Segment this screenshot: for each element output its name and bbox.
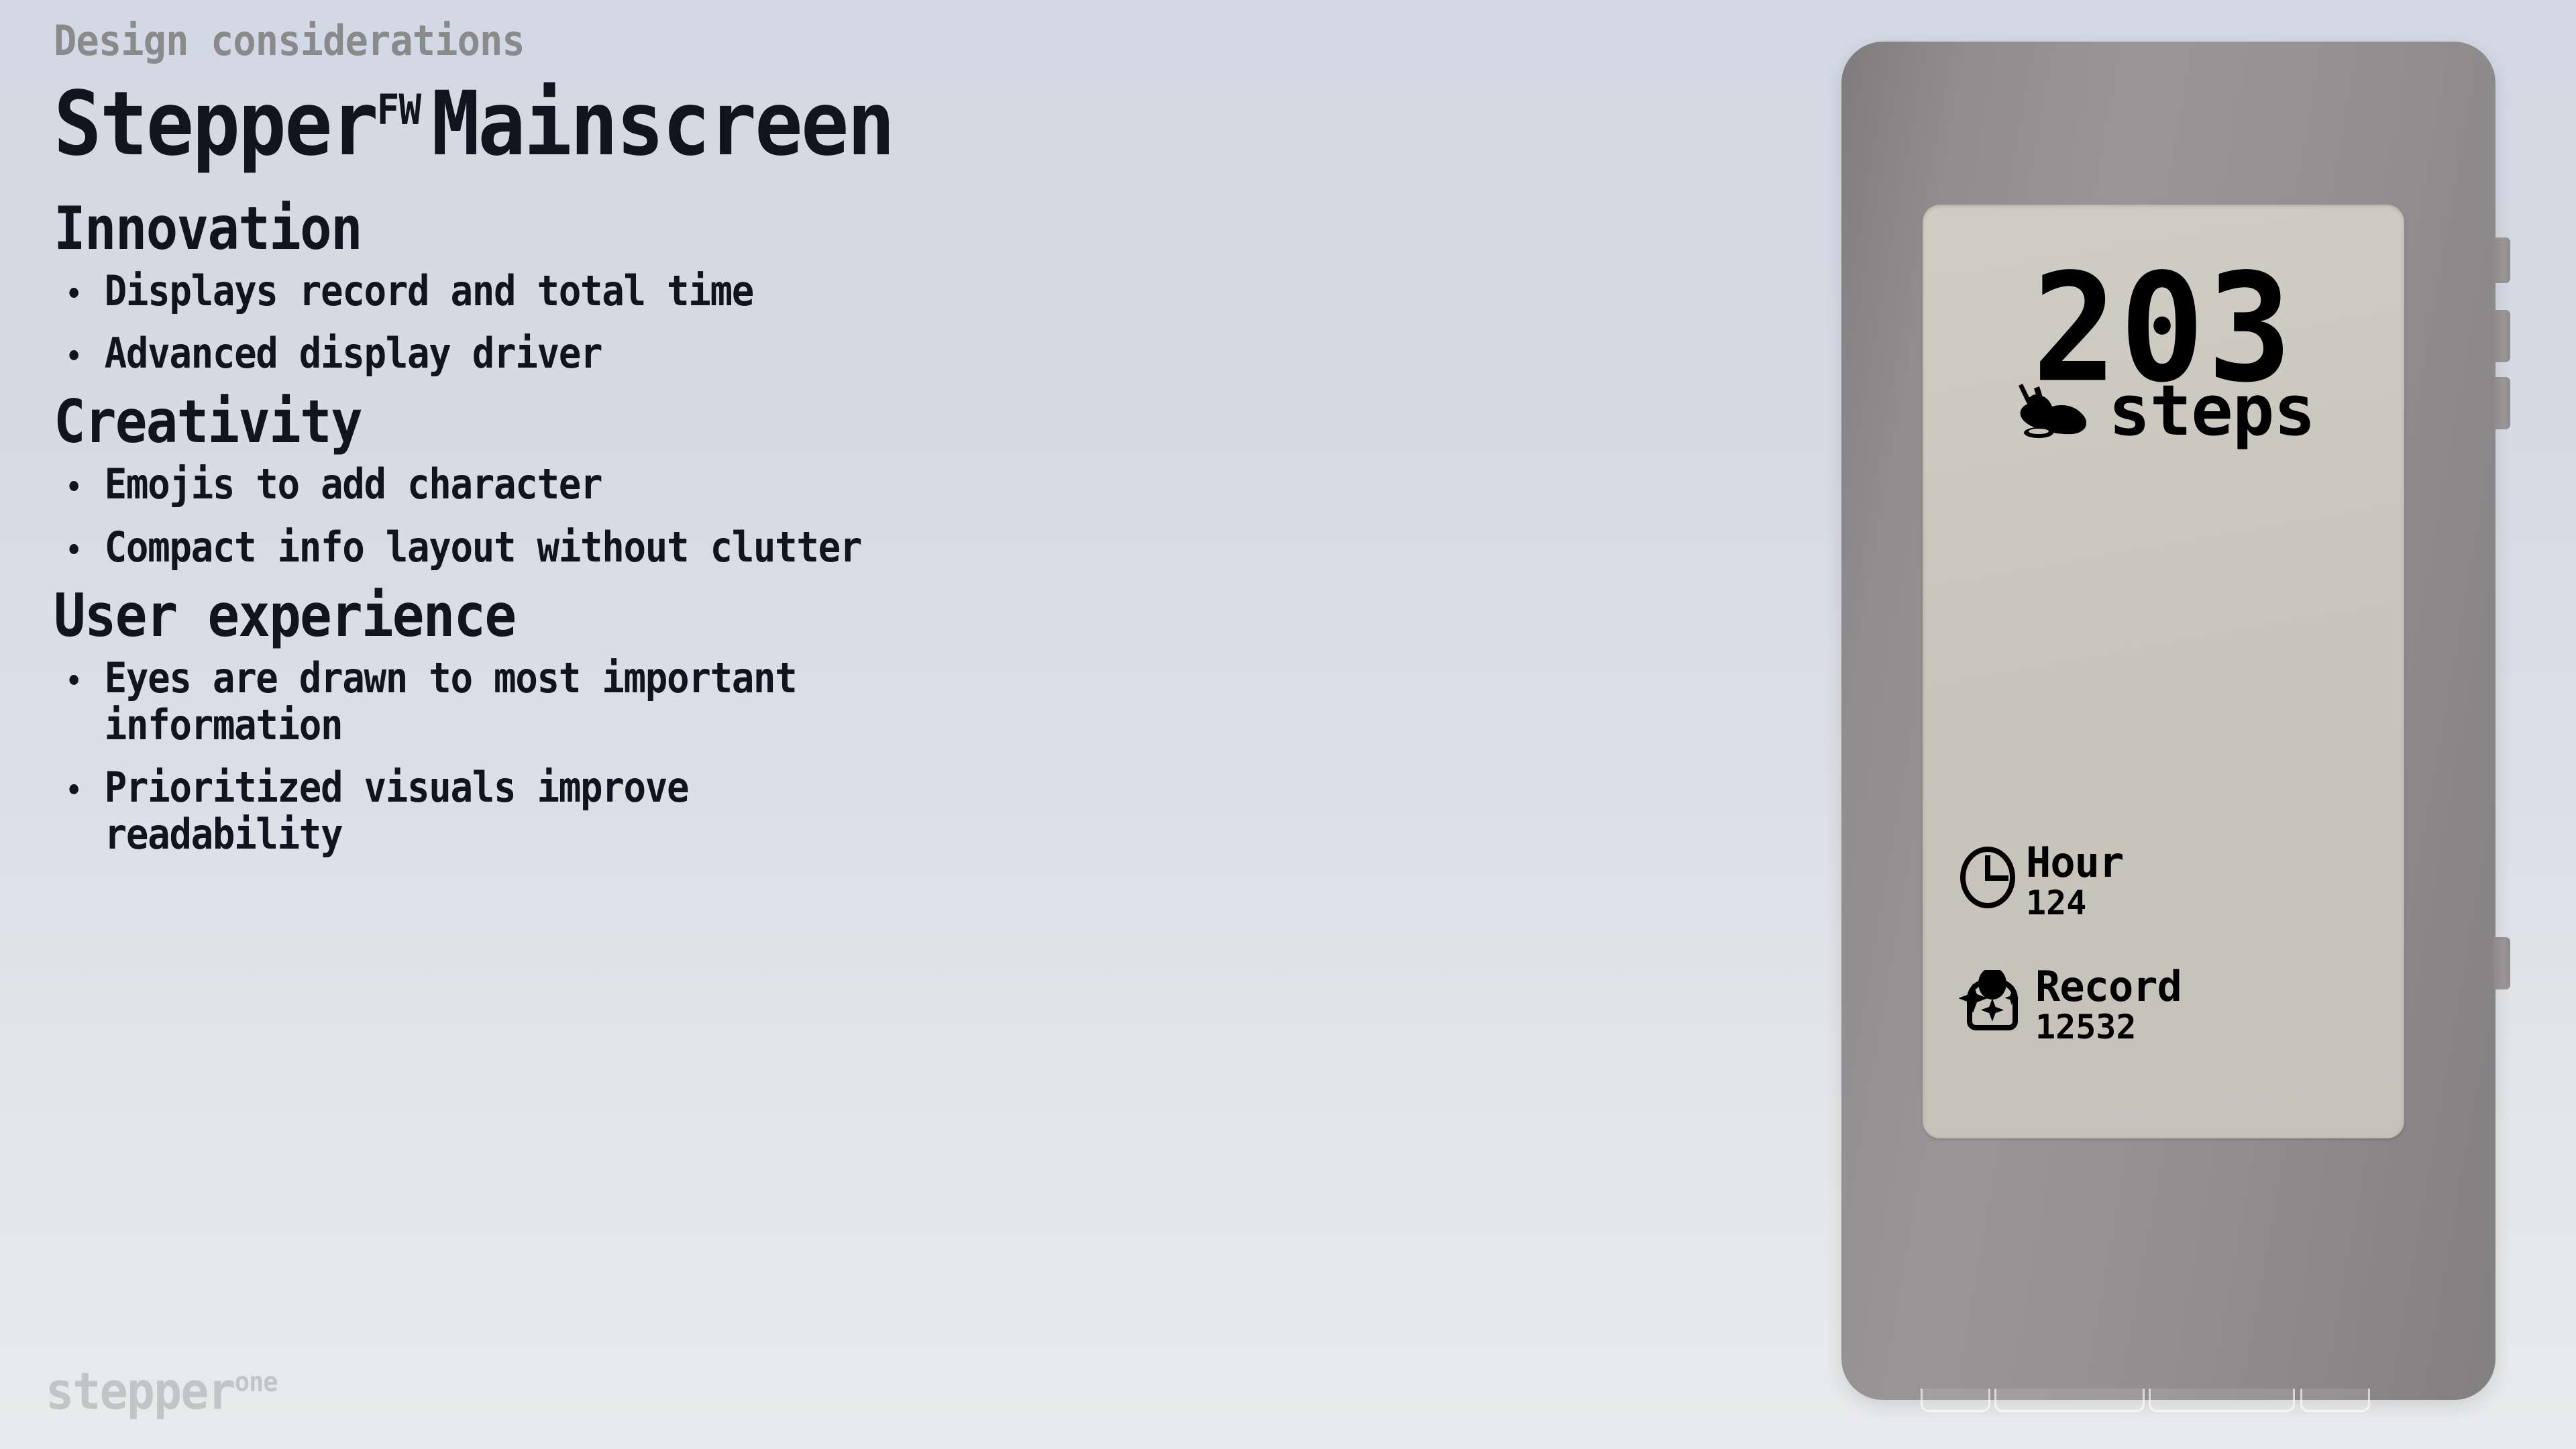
list-item: Prioritized visuals improve readability	[54, 764, 708, 857]
side-button-4[interactable]	[2493, 937, 2510, 989]
bottom-port-2	[1994, 1389, 2145, 1412]
bullet-text: Compact info layout without clutter	[105, 523, 862, 572]
page-title: StepperFWMainscreen	[54, 78, 1599, 171]
title-tail: Mainscreen	[431, 72, 893, 176]
list-item: Compact info layout without clutter	[54, 524, 1131, 570]
device-lcd-screen[interactable]: 203 steps	[1923, 205, 2404, 1138]
stat-value-hour: 124	[2026, 886, 2123, 920]
step-label-row: steps	[1923, 376, 2404, 445]
bottom-port-3	[2149, 1389, 2295, 1412]
content-column: Design considerations StepperFWMainscree…	[54, 20, 1771, 873]
section-heading-user-experience: User experience	[54, 586, 1599, 645]
bullet-dot-icon	[69, 784, 78, 794]
list-item: Advanced display driver	[54, 330, 1131, 376]
stat-block-record: Record 12532	[1959, 966, 2182, 1044]
bottom-port-4	[2300, 1389, 2370, 1412]
bullet-text: Displays record and total time	[105, 266, 753, 315]
stat-text-hour: Hour 124	[2026, 842, 2123, 920]
bullet-dot-icon	[69, 288, 78, 298]
running-shoe-icon	[2012, 382, 2094, 439]
bullet-dot-icon	[69, 481, 78, 491]
brand-name: stepper	[46, 1361, 235, 1421]
bullet-list-innovation: Displays record and total time Advanced …	[54, 268, 1771, 377]
bullet-dot-icon	[69, 350, 78, 360]
bullet-text: Emojis to add character	[105, 460, 602, 508]
stat-block-hour: Hour 124	[1959, 842, 2123, 920]
section-heading-innovation: Innovation	[54, 199, 1599, 258]
bullet-dot-icon	[69, 675, 78, 685]
slide-root: Design considerations StepperFWMainscree…	[0, 0, 2576, 1449]
side-button-1[interactable]	[2493, 237, 2510, 283]
title-superscript: FW	[377, 85, 421, 134]
eyebrow-label: Design considerations	[54, 20, 1633, 62]
bullet-text: Advanced display driver	[105, 329, 602, 378]
section-heading-creativity: Creativity	[54, 392, 1599, 451]
bottom-port-1	[1921, 1389, 1990, 1412]
stat-title-record: Record	[2035, 966, 2182, 1008]
title-main: Stepper	[54, 72, 377, 176]
step-label-text: steps	[2108, 376, 2315, 445]
sparkle-person-icon	[1959, 970, 2026, 1034]
device-mockup: 203 steps	[1841, 42, 2495, 1400]
brand-superscript: one	[235, 1367, 278, 1398]
brand-logo: stepperone	[46, 1366, 278, 1417]
stat-value-record: 12532	[2035, 1010, 2182, 1044]
side-button-2[interactable]	[2493, 310, 2510, 362]
bullet-text: Eyes are drawn to most important informa…	[105, 653, 797, 749]
clock-icon	[1959, 846, 2017, 909]
list-item: Displays record and total time	[54, 268, 1131, 314]
bullet-dot-icon	[69, 544, 78, 554]
stat-text-record: Record 12532	[2035, 966, 2182, 1044]
bullet-text: Prioritized visuals improve readability	[105, 763, 689, 858]
stat-title-hour: Hour	[2026, 842, 2123, 883]
bullet-list-creativity: Emojis to add character Compact info lay…	[54, 461, 1771, 570]
list-item: Emojis to add character	[54, 461, 1131, 507]
bullet-list-user-experience: Eyes are drawn to most important informa…	[54, 655, 1771, 857]
list-item: Eyes are drawn to most important informa…	[54, 655, 817, 748]
side-button-3[interactable]	[2493, 377, 2510, 429]
